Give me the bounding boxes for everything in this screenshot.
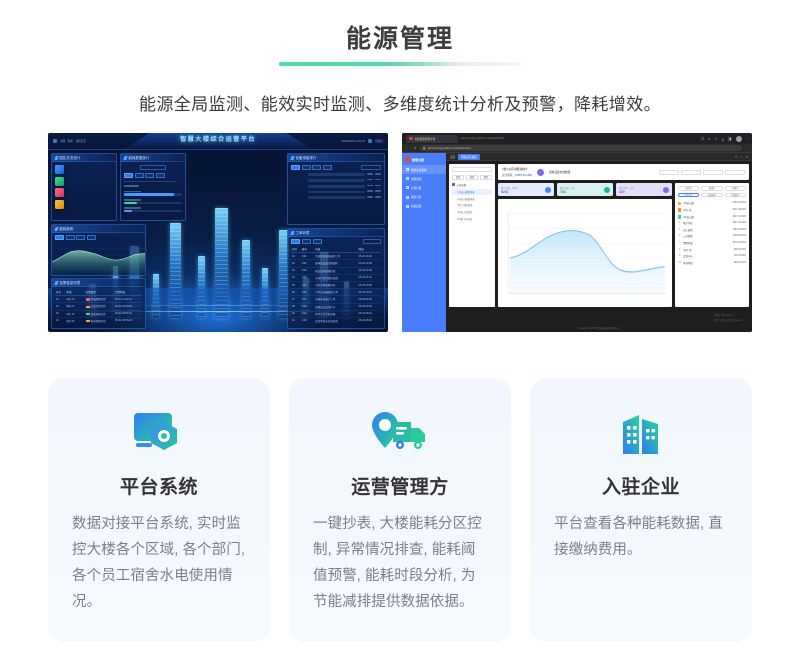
rank-index: 9	[678, 255, 681, 257]
order-table: 序号 编号 内容 时间 01C01 空调主机维保巡检工单05-22 14:20	[291, 246, 381, 324]
summary-total-label: 总计能耗：	[502, 174, 515, 177]
table-row[interactable]: 10C10 宿舍区热水系统保养05-22 08:02	[291, 317, 381, 324]
tree-node-label: 1号办公楼配电室	[457, 190, 474, 194]
status-badge	[86, 320, 90, 322]
col-type: 告警类型	[85, 289, 115, 296]
tab-week[interactable]	[135, 173, 144, 178]
sidebar-item-report[interactable]: 报表分析	[402, 193, 446, 202]
gear-icon	[406, 205, 409, 208]
table-header-row: 序号 区域 告警类型 告警时间	[55, 289, 142, 296]
rank-value: 1443.06 kWh	[732, 229, 746, 231]
screenshot-bi-dashboard[interactable]: 中国 · 深圳 运管首页 智慧大楼综合运管平台 2023/05/22 14:32…	[48, 133, 388, 332]
panel-title: 告警信息列表	[60, 280, 81, 285]
tab-electric-rank[interactable]: 电量排行	[678, 193, 699, 198]
stat-value: 9231	[501, 190, 509, 194]
org-tree-panel: 新增 编辑 删除 公司总部 › 1号办公楼配电	[449, 164, 495, 307]
stat-card-water[interactable]: 累计用水（吨） 784	[557, 183, 613, 196]
minimize-icon[interactable]: —	[746, 137, 749, 140]
medal-gold-icon	[678, 202, 681, 206]
sidebar-item-label: 能耗总览看板	[411, 168, 427, 172]
breadcrumb-home[interactable]: 首页	[450, 155, 455, 159]
building-svg	[617, 410, 665, 460]
list-item[interactable]: 2号办公楼 2617.10 kWh	[678, 213, 746, 220]
summary-title: 1楼公共区域能耗统计	[502, 167, 532, 171]
rank-name: 4号厂房	[683, 248, 731, 252]
bi-panel-trend: 能耗趋势	[51, 224, 146, 276]
forward-icon[interactable]: ›	[410, 146, 411, 150]
close-icon[interactable]: ✕	[745, 155, 748, 159]
sidebar-item-monitor[interactable]: 用能监测	[402, 174, 446, 183]
app-logo: 智慧云能	[402, 155, 446, 165]
electric-icon	[545, 187, 551, 193]
tree-node-label: 5号地下车库区	[457, 217, 472, 221]
summary-total-value: 12587.56 kWh	[515, 174, 532, 177]
panel-title: 园区总览统计	[60, 155, 81, 160]
order-tab-all[interactable]	[291, 239, 300, 244]
panel-marker-icon	[123, 156, 127, 160]
table-row[interactable]: 03 C栋 1F 设备离线告警 05-22 09:57:31	[55, 310, 142, 317]
tree-add-button[interactable]: 新增	[452, 175, 464, 180]
panel-header: 工单列表	[288, 229, 384, 237]
tab-heat[interactable]	[323, 165, 332, 170]
trend-area-svg	[502, 202, 668, 305]
kpi-item[interactable]	[55, 188, 113, 197]
col-time: 告警时间	[114, 289, 142, 296]
medal-silver-icon	[678, 208, 681, 212]
breadcrumb-actions: ⟳ ⛶ ✕	[735, 155, 748, 159]
filter-group	[659, 170, 745, 175]
sidebar-item-settings[interactable]: 系统设置	[402, 202, 446, 211]
watermark-line2: 转到"设置"以激活 Windows。	[714, 318, 744, 322]
table-row[interactable]: 05C05 消防主机故障复位05-22 10:55	[291, 281, 381, 288]
table-header-row: 序号 编号 内容 时间	[291, 246, 381, 253]
bi-location-label: 中国 · 深圳	[60, 139, 73, 143]
metrics-and-chart: 累计用电（kWh） 9231 累计用水（吨）	[498, 183, 672, 307]
monitor-hexagon-svg	[132, 410, 186, 460]
list-item[interactable]: 6 公共照明 1204.50 kWh	[678, 233, 746, 240]
status-badge	[86, 298, 90, 300]
panel-header: 告警信息列表	[52, 279, 145, 287]
table-row[interactable]: 03C03 楼层照明线路检修05-22 12:08	[291, 267, 381, 274]
leaf-icon	[55, 177, 64, 186]
tree-node[interactable]: › 5号地下车库区	[452, 216, 492, 223]
bi-user-label[interactable]: 管理员	[375, 139, 383, 143]
star-icon[interactable]: ☆	[714, 136, 718, 141]
search-icon[interactable]: ⌕	[708, 136, 710, 141]
medal-bronze-icon	[678, 215, 681, 219]
list-item[interactable]: 4 地下车库 1841.22 kWh	[678, 220, 746, 227]
rank-value: 1204.50 kWh	[732, 235, 746, 237]
trend-chart-card	[498, 199, 672, 307]
building-icon	[554, 404, 728, 466]
gas-icon	[663, 187, 669, 193]
home-icon[interactable]	[53, 139, 57, 143]
date-input[interactable]	[140, 165, 166, 170]
list-item[interactable]: 5 员工宿舍 1443.06 kWh	[678, 227, 746, 234]
app-window: 智慧云能 能耗总览看板 用能监测 分项计量	[402, 153, 752, 332]
app-brand-name: 智慧云能	[412, 158, 424, 162]
panel-marker-icon	[290, 231, 294, 235]
device-bar-row	[291, 185, 381, 188]
kpi-item[interactable]	[55, 165, 113, 174]
breadcrumb: 首页 能耗总览看板 ⟳ ⛶ ✕	[446, 153, 752, 161]
screenshot-admin-console[interactable]: 智慧能源管理平台 admin.energy-platform.com/dashb…	[402, 133, 752, 332]
list-item[interactable]: 1号办公楼 4281.24 kWh	[678, 200, 746, 207]
windows-activation-watermark: 激活 Windows 转到"设置"以激活 Windows。	[714, 313, 744, 322]
rank-period-tabs: 日排行 周排行 月排行	[678, 186, 746, 191]
col-index: 序号	[55, 289, 65, 296]
tree-node[interactable]: › 1号办公楼配电室	[452, 189, 492, 196]
device-tab-group[interactable]	[291, 165, 332, 170]
rank-name: 体育场馆	[683, 261, 731, 265]
panel-title: 工单列表	[296, 230, 310, 235]
workspace: 新增 编辑 删除 公司总部 › 1号办公楼配电	[446, 161, 752, 310]
col-content: 内容	[314, 246, 357, 253]
dashboard-icon	[406, 168, 409, 171]
reload-icon[interactable]: ⟳	[414, 146, 417, 150]
watermark-line1: 激活 Windows	[714, 313, 744, 317]
bolt-icon	[55, 200, 64, 209]
feature-card-tenant[interactable]: 入驻企业 平台查看各种能耗数据, 直接缴纳费用。	[530, 378, 752, 642]
report-icon	[406, 196, 409, 199]
summary-secondary-title: 当前设备在线数量	[549, 170, 571, 174]
stat-value: 320	[619, 190, 625, 194]
order-search-input[interactable]	[363, 239, 381, 244]
bi-topbar: 中国 · 深圳 运管首页 智慧大楼综合运管平台 2023/05/22 14:32…	[48, 133, 388, 150]
address-bar-url: admin.energy-platform.com/dashboard	[428, 147, 471, 150]
dimension-select[interactable]	[703, 170, 723, 175]
tree-node[interactable]: › 2号办公楼配电室	[452, 195, 492, 202]
panel-header: 能耗趋势	[52, 225, 145, 233]
bi-trend-chart	[52, 243, 145, 275]
rank-index: 5	[678, 229, 681, 231]
stat-card-group: 累计用电（kWh） 9231 累计用水（吨）	[498, 183, 672, 196]
back-icon[interactable]: ‹	[406, 146, 407, 150]
summary-total: 总计能耗：12587.56 kWh	[502, 173, 532, 177]
table-row[interactable]: 02 B栋 2F 水表异常告警 05-22 10:48:03	[55, 303, 142, 310]
puzzle-icon[interactable]: ◨	[728, 136, 732, 141]
app-content: 首页 能耗总览看板 ⟳ ⛶ ✕	[446, 153, 752, 332]
tab-day-rank[interactable]: 日排行	[678, 186, 699, 191]
panel-header: 园区总览统计	[52, 154, 116, 162]
panel-header: 能耗数据统计	[121, 154, 185, 162]
table-row[interactable]: 07C07 电梯年检配合工单05-22 09:40	[291, 296, 381, 303]
tree-root-label: 公司总部	[457, 183, 467, 187]
rank-name: 2号办公楼	[683, 215, 730, 219]
rank-index: 4	[678, 222, 681, 224]
kpi-item[interactable]	[55, 177, 113, 186]
tab-electric[interactable]	[291, 165, 300, 170]
sidebar-item-metering[interactable]: 分项计量	[402, 183, 446, 192]
tab-year[interactable]	[87, 235, 96, 240]
kpi-item[interactable]	[55, 200, 113, 209]
breadcrumb-current[interactable]: 能耗总览看板	[458, 154, 480, 160]
tree-button-group: 新增 编辑 删除	[452, 175, 492, 180]
alarm-type-cell: 水表异常告警	[85, 303, 115, 310]
rank-value: 742.33 kWh	[734, 255, 746, 257]
sidebar-item-overview[interactable]: 能耗总览看板	[402, 165, 446, 174]
rank-index: 10	[678, 262, 681, 264]
download-icon[interactable]: ⤓	[722, 136, 724, 141]
chevron-right-icon: ›	[455, 198, 456, 200]
chevron-right-icon: ›	[455, 191, 456, 193]
stat-value: 784	[560, 190, 566, 194]
table-row[interactable]: 02C02 配电房设备定期巡检05-22 13:46	[291, 260, 381, 267]
table-row[interactable]: 09C09 地下车库排风故障05-22 08:31	[291, 310, 381, 317]
rank-index: 7	[678, 242, 681, 244]
rank-value: 4281.24 kWh	[732, 202, 746, 204]
tree-node[interactable]: › 3号厂房配电室	[452, 202, 492, 209]
alarm-type-cell: 用电超限告警	[85, 296, 115, 303]
location-truck-icon	[313, 404, 487, 466]
status-badge	[86, 306, 90, 308]
rank-value: 3012.48 kWh	[732, 209, 746, 211]
favicon-icon	[409, 137, 413, 141]
start-date-input[interactable]	[659, 170, 679, 175]
rank-name: 1号办公楼	[683, 201, 730, 205]
avatar[interactable]	[736, 136, 742, 142]
chevron-right-icon: ›	[455, 211, 456, 213]
chevron-right-icon: ›	[455, 204, 456, 206]
location-truck-svg	[371, 410, 429, 460]
building-icon	[55, 165, 64, 174]
rank-name: 会议中心	[683, 254, 731, 258]
table-row[interactable]: 01 A栋 3F 用电超限告警 05-22 11:20:14	[55, 296, 142, 303]
rank-type-tabs: 电量排行 水量排行 气量排行	[678, 193, 746, 198]
device-bar-row	[291, 196, 381, 199]
panel-marker-icon	[54, 227, 58, 231]
page-subtitle: 能源全局监测、能效实时监测、多维度统计分析及预警，降耗增效。	[0, 92, 800, 118]
bi-panel-alarm: 告警信息列表 序号 区域 告警类型 告警时间	[51, 278, 146, 329]
fullscreen-icon[interactable]: ⛶	[740, 155, 742, 159]
rank-index: 6	[678, 235, 681, 237]
user-icon[interactable]	[368, 139, 372, 143]
trend-area-svg	[52, 243, 145, 275]
address-bar[interactable]: 🔒 admin.energy-platform.com/dashboard	[420, 145, 742, 151]
tree-node[interactable]: › 4号员工宿舍区	[452, 209, 492, 216]
tab-week[interactable]	[66, 235, 75, 240]
table-row[interactable]: 04C04 水泵房管道漏水处理05-22 11:32	[291, 274, 381, 281]
tab-week-rank[interactable]: 周排行	[701, 186, 722, 191]
list-item[interactable]: 9 会议中心 742.33 kWh	[678, 253, 746, 260]
end-date-input[interactable]	[681, 170, 701, 175]
col-code: 编号	[301, 246, 315, 253]
ranking-panel: 日排行 周排行 月排行 电量排行 水量排行 气量排行	[675, 183, 749, 307]
device-bar-row	[291, 190, 381, 193]
status-badge	[86, 313, 90, 315]
feature-desc: 一键抄表, 大楼能耗分区控制, 异常情况排查, 能耗阈值预警, 能耗时段分析, …	[313, 511, 487, 615]
summary-card: 1楼公共区域能耗统计 总计能耗：12587.56 kWh 当前设备在线数量	[498, 164, 749, 180]
mid-section: 累计用电（kWh） 9231 累计用水（吨）	[498, 183, 749, 307]
list-item[interactable]: 8 4号厂房 905.18 kWh	[678, 246, 746, 253]
logo-mark-icon	[405, 157, 410, 162]
order-tab-done[interactable]	[313, 239, 322, 244]
panel-title: 能耗趋势	[60, 226, 74, 231]
rank-value: 2617.10 kWh	[732, 216, 746, 218]
feature-desc: 数据对接平台系统, 实时监控大楼各个区域, 各个部门, 各个员工宿舍水电使用情况…	[72, 511, 246, 615]
order-tab-pending[interactable]	[302, 239, 311, 244]
bi-panel-energy: 能耗数据统计	[120, 153, 186, 221]
app-sidebar: 智慧云能 能耗总览看板 用能监测 分项计量	[402, 153, 446, 332]
table-row[interactable]: 01C01 空调主机维保巡检工单05-22 14:20	[291, 253, 381, 260]
browser-tab-title: 智慧能源管理平台	[415, 137, 436, 141]
page-title: 能源管理	[0, 22, 800, 56]
tree-root-node[interactable]: 公司总部	[452, 183, 492, 187]
panel-title: 设备用能排行	[296, 155, 317, 160]
rank-value: 1841.22 kWh	[732, 222, 746, 224]
bi-panel-kpi: 园区总览统计	[51, 153, 117, 221]
trend-chart	[502, 202, 668, 305]
sidebar-item-label: 用能监测	[411, 177, 421, 181]
tree-search-input[interactable]	[452, 167, 492, 172]
bi-panel-orders: 工单列表 序号	[287, 228, 385, 329]
bi-datetime: 2023/05/22 14:32:07	[341, 140, 365, 143]
browser-tab[interactable]: 智慧能源管理平台	[406, 135, 458, 143]
device-filter-input[interactable]	[361, 165, 381, 170]
stat-card-electric[interactable]: 累计用电（kWh） 9231	[498, 183, 554, 196]
col-time: 时间	[358, 246, 381, 253]
browser-toolbar: ‹ › ⟳ 🔒 admin.energy-platform.com/dashbo…	[402, 144, 752, 153]
monitor-icon	[406, 177, 409, 180]
bi-panel-device-rank: 设备用能排行	[287, 153, 385, 225]
panel-title: 能耗数据统计	[129, 155, 150, 160]
main-column: 1楼公共区域能耗统计 总计能耗：12587.56 kWh 当前设备在线数量	[498, 164, 749, 307]
monitor-hexagon-icon	[72, 404, 246, 466]
rank-index: 8	[678, 249, 681, 251]
feature-title: 运营管理方	[313, 472, 487, 499]
table-row[interactable]: 06C06 门禁读卡器更换工单05-22 10:12	[291, 289, 381, 296]
panel-marker-icon	[54, 281, 58, 285]
bi-module-label[interactable]: 运管首页	[76, 139, 86, 143]
tab-month[interactable]	[76, 235, 85, 240]
rank-name: 员工宿舍	[683, 228, 730, 232]
tab-month[interactable]	[145, 173, 154, 178]
rank-name: 3号厂房	[683, 208, 730, 212]
tab-gas-rank[interactable]: 气量排行	[725, 193, 746, 198]
stat-card-gas[interactable]: 累计用气（m³） 320	[616, 183, 672, 196]
device-bar-row	[291, 173, 381, 176]
screenshot-gallery: 中国 · 深圳 运管首页 智慧大楼综合运管平台 2023/05/22 14:32…	[48, 133, 752, 332]
water-icon	[604, 187, 610, 193]
tree-edit-button[interactable]: 编辑	[466, 175, 478, 180]
company-icon	[452, 183, 455, 186]
lock-icon: 🔒	[423, 147, 426, 150]
browser-chrome: 智慧能源管理平台 admin.energy-platform.com/dashb…	[402, 133, 752, 144]
tab-month-rank[interactable]: 月排行	[725, 186, 746, 191]
menu-icon[interactable]: ⋮	[745, 146, 748, 150]
tree-node-label: 4号员工宿舍区	[457, 210, 472, 214]
window-controls: ⠿ ⌕ ☆ ⤓ ◨ —	[701, 136, 748, 142]
browser-url-hint: admin.energy-platform.com/dashboard	[461, 137, 504, 140]
meter-icon	[406, 186, 409, 189]
device-bar-row	[291, 179, 381, 182]
tab-gas[interactable]	[312, 165, 321, 170]
chevron-right-icon: ›	[455, 218, 456, 220]
sidebar-item-label: 分项计量	[411, 186, 421, 190]
col-index: 序号	[291, 246, 301, 253]
feature-desc: 平台查看各种能耗数据, 直接缴纳费用。	[554, 511, 728, 563]
refresh-icon[interactable]: ⟳	[735, 155, 738, 159]
col-area: 区域	[65, 289, 84, 296]
feature-card-platform[interactable]: 平台系统 数据对接平台系统, 实时监控大楼各个区域, 各个部门, 各个员工宿舍水…	[48, 378, 270, 642]
rank-name: 食堂区域	[683, 241, 730, 245]
energy-bar-row	[124, 185, 182, 188]
fire-icon	[55, 188, 64, 197]
grid-icon[interactable]: ⠿	[701, 136, 704, 141]
tab-water-rank[interactable]: 水量排行	[701, 193, 722, 198]
trend-tab-group[interactable]	[55, 235, 142, 240]
panel-marker-icon	[290, 156, 294, 160]
tree-node-label: 3号厂房配电室	[457, 203, 472, 207]
energy-gauge-icon	[537, 169, 544, 176]
alarm-type-cell: 设备离线告警	[85, 310, 115, 317]
energy-tab-group[interactable]	[124, 173, 182, 178]
alarm-table: 序号 区域 告警类型 告警时间 01 A栋 3F 用电超限告警 05-22 11	[55, 289, 142, 324]
sidebar-item-label: 系统设置	[411, 204, 421, 208]
bi-brand-title: 智慧大楼综合运管平台	[180, 134, 256, 143]
section-header: 能源管理 能源全局监测、能效实时监测、多维度统计分析及预警，降耗增效。	[0, 0, 800, 118]
app-footer: 激活 Windows 转到"设置"以激活 Windows。 Copyright …	[446, 310, 752, 332]
list-item[interactable]: 10 体育场馆 603.81 kWh	[678, 260, 746, 267]
list-item[interactable]: 3号厂房 3012.48 kWh	[678, 207, 746, 214]
sidebar-item-label: 报表分析	[411, 195, 421, 199]
rank-value: 603.81 kWh	[734, 262, 746, 264]
tree-delete-button[interactable]: 删除	[480, 175, 492, 180]
panel-header: 设备用能排行	[288, 154, 384, 162]
alarm-type-cell: 电压越限告警	[85, 317, 115, 324]
tab-water[interactable]	[302, 165, 311, 170]
feature-card-group: 平台系统 数据对接平台系统, 实时监控大楼各个区域, 各个部门, 各个员工宿舍水…	[48, 378, 752, 642]
feature-card-operator[interactable]: 运营管理方 一键抄表, 大楼能耗分区控制, 异常情况排查, 能耗阈值预警, 能耗…	[289, 378, 511, 642]
title-underline	[279, 62, 522, 66]
table-row[interactable]: 04 D栋 5F 电压越限告警 05-22 08:36:22	[55, 317, 142, 324]
query-button[interactable]	[725, 170, 745, 175]
list-item[interactable]: 7 食堂区域 1073.94 kWh	[678, 240, 746, 247]
rank-name: 地下车库	[683, 221, 730, 225]
rank-value: 905.18 kWh	[734, 249, 746, 251]
table-row[interactable]: 08C08 屋面光伏清洗作业05-22 09:05	[291, 303, 381, 310]
tab-day[interactable]	[124, 173, 133, 178]
page-root: 能源管理 能源全局监测、能效实时监测、多维度统计分析及预警，降耗增效。	[0, 0, 800, 667]
rank-name: 公共照明	[683, 234, 730, 238]
copyright-text: Copyright © 2023 智慧云能科技有限公司	[446, 326, 752, 330]
feature-title: 平台系统	[72, 472, 246, 499]
tab-year[interactable]	[156, 173, 165, 178]
rank-value: 1073.94 kWh	[732, 242, 746, 244]
feature-title: 入驻企业	[554, 472, 728, 499]
panel-marker-icon	[54, 156, 58, 160]
tree-node-label: 2号办公楼配电室	[457, 197, 474, 201]
tab-day[interactable]	[55, 235, 64, 240]
